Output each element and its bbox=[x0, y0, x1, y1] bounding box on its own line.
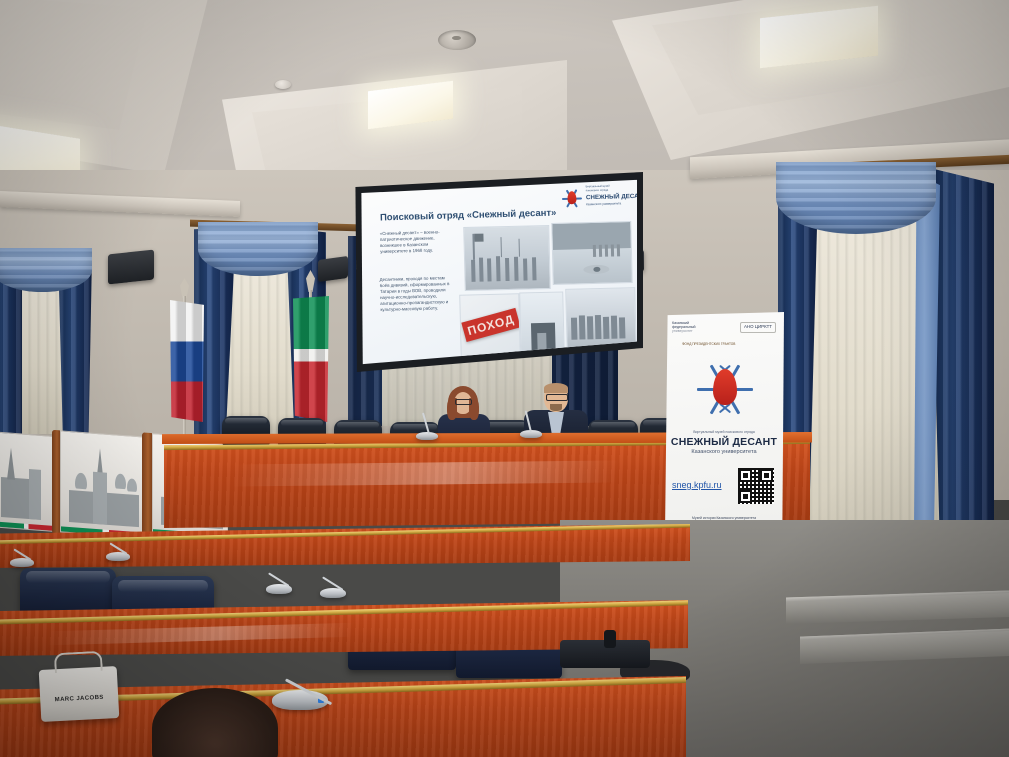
curtain-swag-right bbox=[776, 162, 936, 234]
banner-title: СНЕЖНЫЙ ДЕСАНТ bbox=[664, 436, 784, 448]
banner-logo-cirktt-line1: АНО ЦИРКТТ bbox=[744, 325, 772, 330]
audience-member-foreground bbox=[152, 688, 278, 757]
wall-speaker-left bbox=[318, 256, 348, 282]
russia-flag-cloth bbox=[170, 300, 204, 422]
audience-member-hair bbox=[152, 688, 278, 757]
smoke-detector-icon bbox=[275, 80, 291, 89]
wall-speaker-far-left bbox=[108, 250, 154, 285]
conference-hall-photo: Поисковый отряд «Снежный десант» «Снежны… bbox=[0, 0, 1009, 757]
slide-photo-march-column bbox=[463, 225, 551, 291]
banner-grant-logo: ФОНД ПРЕЗИДЕНТСКИХ ГРАНТОВ bbox=[682, 342, 778, 346]
banner-snowflake-flame-emblem-icon bbox=[694, 358, 756, 420]
ceiling-speaker-icon bbox=[438, 30, 476, 50]
slide-paragraph-2: Десантники, проходя по местам боёв дивиз… bbox=[380, 275, 457, 313]
banner-qr-code[interactable] bbox=[738, 468, 774, 504]
banner-eyebrow: Виртуальный музей поискового отряда bbox=[664, 430, 784, 434]
presentation-slide: Поисковый отряд «Снежный десант» «Снежны… bbox=[360, 178, 637, 366]
slide-photo-memorial bbox=[551, 221, 632, 285]
handbag-brand-label: MARC JACOBS bbox=[55, 695, 104, 704]
tatarstan-flag-cloth bbox=[293, 296, 329, 422]
man-speaker-glasses-icon bbox=[546, 394, 568, 401]
banner-logo-cirktt: АНО ЦИРКТТ bbox=[740, 322, 776, 333]
slide-photo-doorway bbox=[519, 291, 565, 358]
curtain-right bbox=[782, 160, 1009, 560]
slide-paragraph-1: «Снежный десант» – военно-патриотическое… bbox=[380, 229, 453, 255]
projection-screen-frame: Поисковый отряд «Снежный десант» «Снежны… bbox=[354, 172, 643, 372]
curtain-center bbox=[190, 222, 360, 452]
slide-logo-title: СНЕЖНЫЙ ДЕСАНТ bbox=[586, 193, 637, 202]
snowflake-flame-emblem-icon bbox=[560, 186, 585, 211]
banner-logo-kfu: Казанский федеральный университет bbox=[672, 322, 696, 333]
man-speaker-hair bbox=[544, 383, 568, 393]
pohod-poster-text: ПОХОД bbox=[461, 308, 520, 342]
desk-object-knob bbox=[604, 630, 616, 648]
kremlin-panel-1 bbox=[0, 431, 56, 532]
curtain-left bbox=[0, 248, 120, 438]
slide-logo-line4: Казанского университета bbox=[586, 201, 621, 206]
slide-logo-line2: поискового отряда bbox=[586, 189, 608, 193]
woman-speaker-glasses-icon bbox=[455, 399, 472, 405]
handbag-strap bbox=[54, 651, 103, 673]
handbag: MARC JACOBS bbox=[39, 666, 120, 722]
banner-grant-logo-text: ФОНД ПРЕЗИДЕНТСКИХ ГРАНТОВ bbox=[682, 342, 735, 346]
banner-url-link[interactable]: sneg.kpfu.ru bbox=[672, 480, 722, 490]
slide-photo-pohod-poster: ПОХОД bbox=[459, 293, 521, 358]
slide-title: Поисковый отряд «Снежный десант» bbox=[380, 208, 557, 224]
slide-photo-group bbox=[565, 287, 637, 353]
curtain-swag-center bbox=[198, 222, 318, 276]
banner-subtitle: Казанского университета bbox=[664, 449, 784, 455]
banner-partner-logos: Казанский федеральный университет АНО ЦИ… bbox=[672, 322, 776, 333]
man-speaker-beard bbox=[550, 404, 562, 411]
russia-flag bbox=[168, 296, 208, 446]
slide-corner-logo: Виртуальный музей поискового отряда СНЕЖ… bbox=[560, 183, 635, 215]
drape-right-outer bbox=[930, 168, 994, 560]
kremlin-panel-2 bbox=[60, 430, 148, 538]
banner-logo-kfu-line3: университет bbox=[672, 330, 696, 334]
